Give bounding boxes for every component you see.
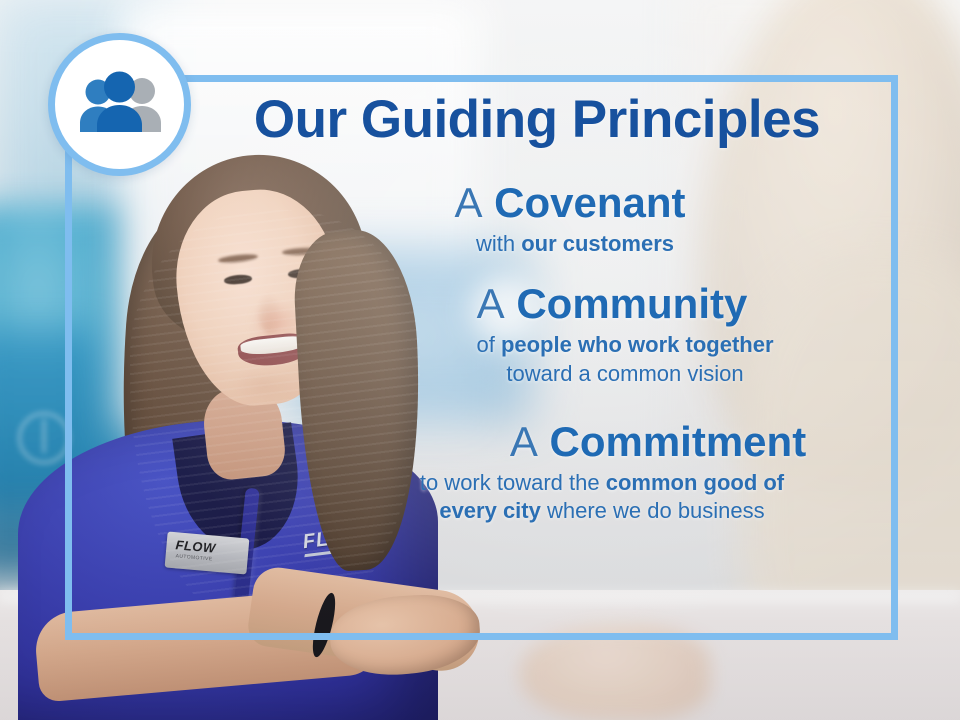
principle-sub-regular: of: [476, 332, 500, 357]
guiding-principles-poster: FLOW AUTOMOTIVE FLOW: [0, 0, 960, 720]
principle-title: A Covenant: [280, 180, 860, 225]
principle-subtitle: to work toward the common good of every …: [392, 469, 812, 526]
page-title: Our Guiding Principles: [212, 92, 862, 147]
chin: [230, 368, 300, 404]
principle-lead: A: [454, 179, 482, 226]
people-group-icon: [72, 70, 168, 140]
principle-lead: A: [510, 418, 538, 465]
name-badge-subtext: AUTOMOTIVE: [175, 554, 212, 562]
name-badge: FLOW AUTOMOTIVE: [165, 531, 250, 574]
client-hand: [520, 625, 710, 720]
principle-community: A Community of people who work together …: [300, 281, 880, 389]
principles-list: A Covenant with our customers A Communit…: [300, 180, 880, 540]
principle-covenant: A Covenant with our customers: [300, 180, 880, 259]
principle-subtitle: of people who work together toward a com…: [335, 331, 915, 388]
principle-lead: A: [477, 280, 505, 327]
principle-title: A Commitment: [368, 419, 948, 464]
principle-sub-regular: to work toward the: [420, 470, 606, 495]
name-badge-logo: FLOW: [175, 538, 216, 554]
principle-keyword: Community: [516, 280, 747, 327]
principle-title: A Community: [322, 281, 902, 326]
principle-sub-regular: with: [476, 231, 521, 256]
people-group-badge: [48, 33, 191, 176]
principle-sub-bold: people who work together: [501, 332, 774, 357]
principle-keyword: Commitment: [550, 418, 807, 465]
principle-sub-regular-2: toward a common vision: [506, 361, 743, 386]
principle-commitment: A Commitment to work toward the common g…: [300, 419, 880, 527]
principle-sub-regular-2: where we do business: [541, 498, 765, 523]
principle-keyword: Covenant: [494, 179, 685, 226]
principle-sub-bold: our customers: [521, 231, 674, 256]
principle-subtitle: with our customers: [285, 230, 865, 259]
